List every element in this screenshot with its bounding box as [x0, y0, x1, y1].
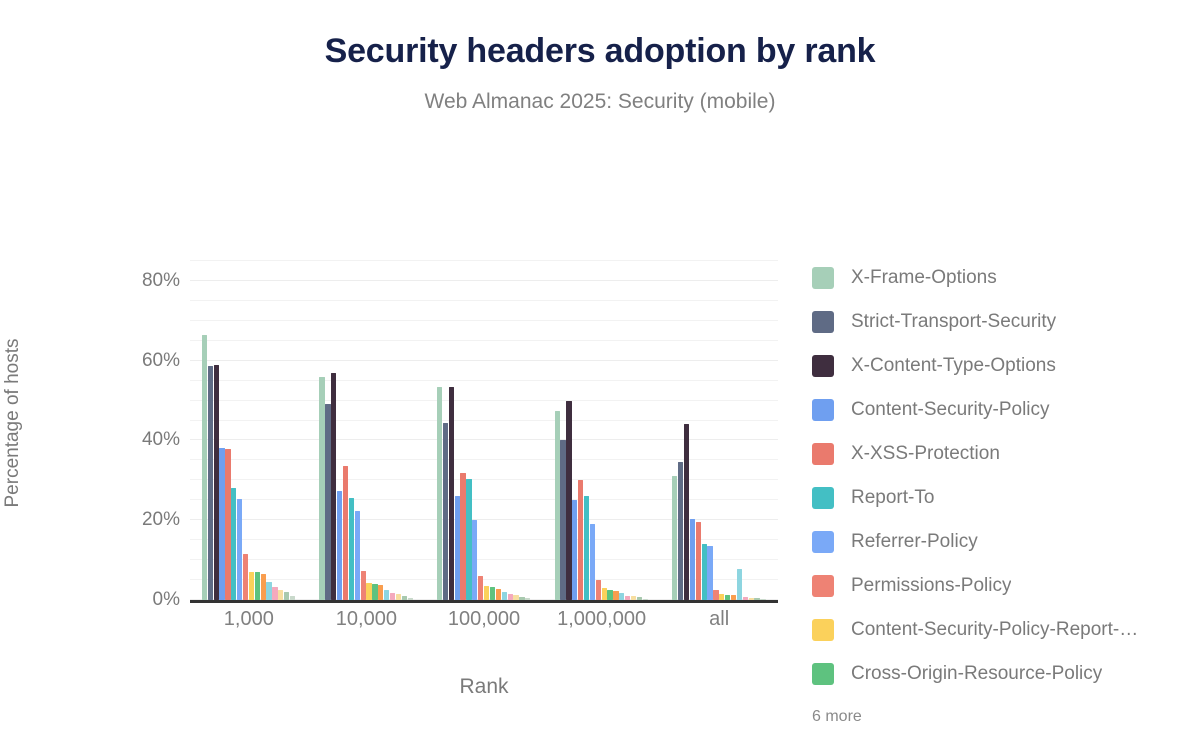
- bar-group[interactable]: [672, 261, 766, 600]
- x-tick-label: 10,000: [336, 608, 397, 631]
- legend-swatch-icon: [812, 399, 834, 421]
- bar[interactable]: [361, 571, 366, 601]
- bar[interactable]: [560, 440, 565, 600]
- y-tick-label: 20%: [110, 509, 180, 531]
- bar[interactable]: [737, 569, 742, 600]
- bar[interactable]: [502, 592, 507, 600]
- bar[interactable]: [690, 519, 695, 600]
- bar[interactable]: [266, 582, 271, 600]
- bar[interactable]: [460, 473, 465, 600]
- legend-swatch-icon: [812, 355, 834, 377]
- bar[interactable]: [319, 377, 324, 600]
- bar[interactable]: [696, 522, 701, 600]
- y-tick-label: 40%: [110, 429, 180, 451]
- bar[interactable]: [478, 576, 483, 600]
- y-tick-label: 0%: [110, 589, 180, 611]
- legend-item[interactable]: Content-Security-Policy-Report-…: [812, 608, 1192, 652]
- legend-label: Cross-Origin-Resource-Policy: [851, 663, 1102, 685]
- bar-group[interactable]: [555, 261, 649, 600]
- chart-subtitle: Web Almanac 2025: Security (mobile): [0, 90, 1200, 114]
- plot-area: [190, 261, 778, 600]
- x-axis-title: Rank: [190, 675, 778, 699]
- y-tick-label: 80%: [110, 270, 180, 292]
- bar[interactable]: [607, 590, 612, 600]
- x-tick-label: all: [709, 608, 729, 631]
- legend-item[interactable]: Permissions-Policy: [812, 564, 1192, 608]
- bar[interactable]: [566, 401, 571, 600]
- bar[interactable]: [443, 423, 448, 600]
- legend-swatch-icon: [812, 575, 834, 597]
- bar[interactable]: [455, 496, 460, 600]
- y-tick-label: 60%: [110, 350, 180, 372]
- bar[interactable]: [484, 586, 489, 600]
- bar[interactable]: [713, 590, 718, 600]
- bar[interactable]: [390, 593, 395, 600]
- legend-item[interactable]: Referrer-Policy: [812, 520, 1192, 564]
- legend-item[interactable]: X-Frame-Options: [812, 256, 1192, 300]
- bar[interactable]: [684, 424, 689, 600]
- legend-label: Content-Security-Policy: [851, 399, 1050, 421]
- bar[interactable]: [672, 476, 677, 600]
- legend-label: X-Content-Type-Options: [851, 355, 1056, 377]
- x-tick-label: 1,000: [224, 608, 274, 631]
- bar-group[interactable]: [437, 261, 531, 600]
- legend-more-label[interactable]: 6 more: [812, 708, 1192, 726]
- bar[interactable]: [466, 479, 471, 600]
- bar[interactable]: [702, 544, 707, 600]
- bar[interactable]: [261, 574, 266, 600]
- chart-root: Security headers adoption by rank Web Al…: [0, 0, 1200, 742]
- bar[interactable]: [284, 592, 289, 600]
- bar[interactable]: [472, 520, 477, 600]
- bar[interactable]: [602, 588, 607, 600]
- bar[interactable]: [496, 589, 501, 600]
- legend-item[interactable]: Cross-Origin-Resource-Policy: [812, 652, 1192, 696]
- legend-label: Permissions-Policy: [851, 575, 1011, 597]
- bar[interactable]: [366, 583, 371, 600]
- bar[interactable]: [219, 448, 224, 600]
- bar[interactable]: [325, 404, 330, 600]
- legend-swatch-icon: [812, 267, 834, 289]
- bar[interactable]: [355, 511, 360, 600]
- legend-item[interactable]: Report-To: [812, 476, 1192, 520]
- bar[interactable]: [619, 593, 624, 600]
- y-axis-ticks: 0%20%40%60%80%: [100, 0, 180, 742]
- bar[interactable]: [578, 480, 583, 600]
- bar[interactable]: [249, 572, 254, 600]
- legend-swatch-icon: [812, 311, 834, 333]
- chart-legend: X-Frame-OptionsStrict-Transport-Security…: [812, 256, 1192, 726]
- bar[interactable]: [202, 335, 207, 600]
- y-axis-title: Percentage of hosts: [2, 243, 24, 603]
- bar[interactable]: [555, 411, 560, 600]
- bar[interactable]: [231, 488, 236, 600]
- bar[interactable]: [225, 449, 230, 600]
- legend-item[interactable]: X-XSS-Protection: [812, 432, 1192, 476]
- legend-label: Content-Security-Policy-Report-…: [851, 619, 1138, 641]
- legend-label: Strict-Transport-Security: [851, 311, 1056, 333]
- legend-label: X-XSS-Protection: [851, 443, 1000, 465]
- bar[interactable]: [349, 498, 354, 600]
- bar[interactable]: [678, 462, 683, 600]
- bar[interactable]: [237, 499, 242, 600]
- bar[interactable]: [337, 491, 342, 600]
- bar[interactable]: [437, 387, 442, 600]
- bar[interactable]: [613, 591, 618, 600]
- bar[interactable]: [255, 572, 260, 600]
- bar[interactable]: [584, 496, 589, 600]
- bar-group[interactable]: [202, 261, 296, 600]
- x-tick-label: 100,000: [448, 608, 520, 631]
- legend-swatch-icon: [812, 487, 834, 509]
- bar[interactable]: [243, 554, 248, 600]
- legend-swatch-icon: [812, 443, 834, 465]
- x-tick-label: 1,000,000: [557, 608, 646, 631]
- bar[interactable]: [449, 387, 454, 600]
- bar[interactable]: [490, 587, 495, 600]
- bar[interactable]: [596, 580, 601, 600]
- bar[interactable]: [214, 365, 219, 600]
- legend-swatch-icon: [812, 619, 834, 641]
- bar[interactable]: [278, 590, 283, 600]
- legend-item[interactable]: X-Content-Type-Options: [812, 344, 1192, 388]
- x-axis-line: [190, 600, 778, 603]
- bar-group[interactable]: [319, 261, 413, 600]
- bar[interactable]: [372, 584, 377, 600]
- legend-swatch-icon: [812, 531, 834, 553]
- legend-item[interactable]: Content-Security-Policy: [812, 388, 1192, 432]
- bar[interactable]: [707, 546, 712, 600]
- legend-label: Report-To: [851, 487, 934, 509]
- bar[interactable]: [590, 524, 595, 600]
- bar[interactable]: [208, 366, 213, 600]
- chart-title: Security headers adoption by rank: [0, 32, 1200, 71]
- bar[interactable]: [378, 585, 383, 600]
- legend-item[interactable]: Strict-Transport-Security: [812, 300, 1192, 344]
- legend-label: X-Frame-Options: [851, 267, 997, 289]
- legend-swatch-icon: [812, 663, 834, 685]
- legend-label: Referrer-Policy: [851, 531, 978, 553]
- bar[interactable]: [331, 373, 336, 600]
- bar[interactable]: [343, 466, 348, 600]
- bar[interactable]: [572, 500, 577, 601]
- bar[interactable]: [384, 590, 389, 600]
- bar[interactable]: [272, 587, 277, 600]
